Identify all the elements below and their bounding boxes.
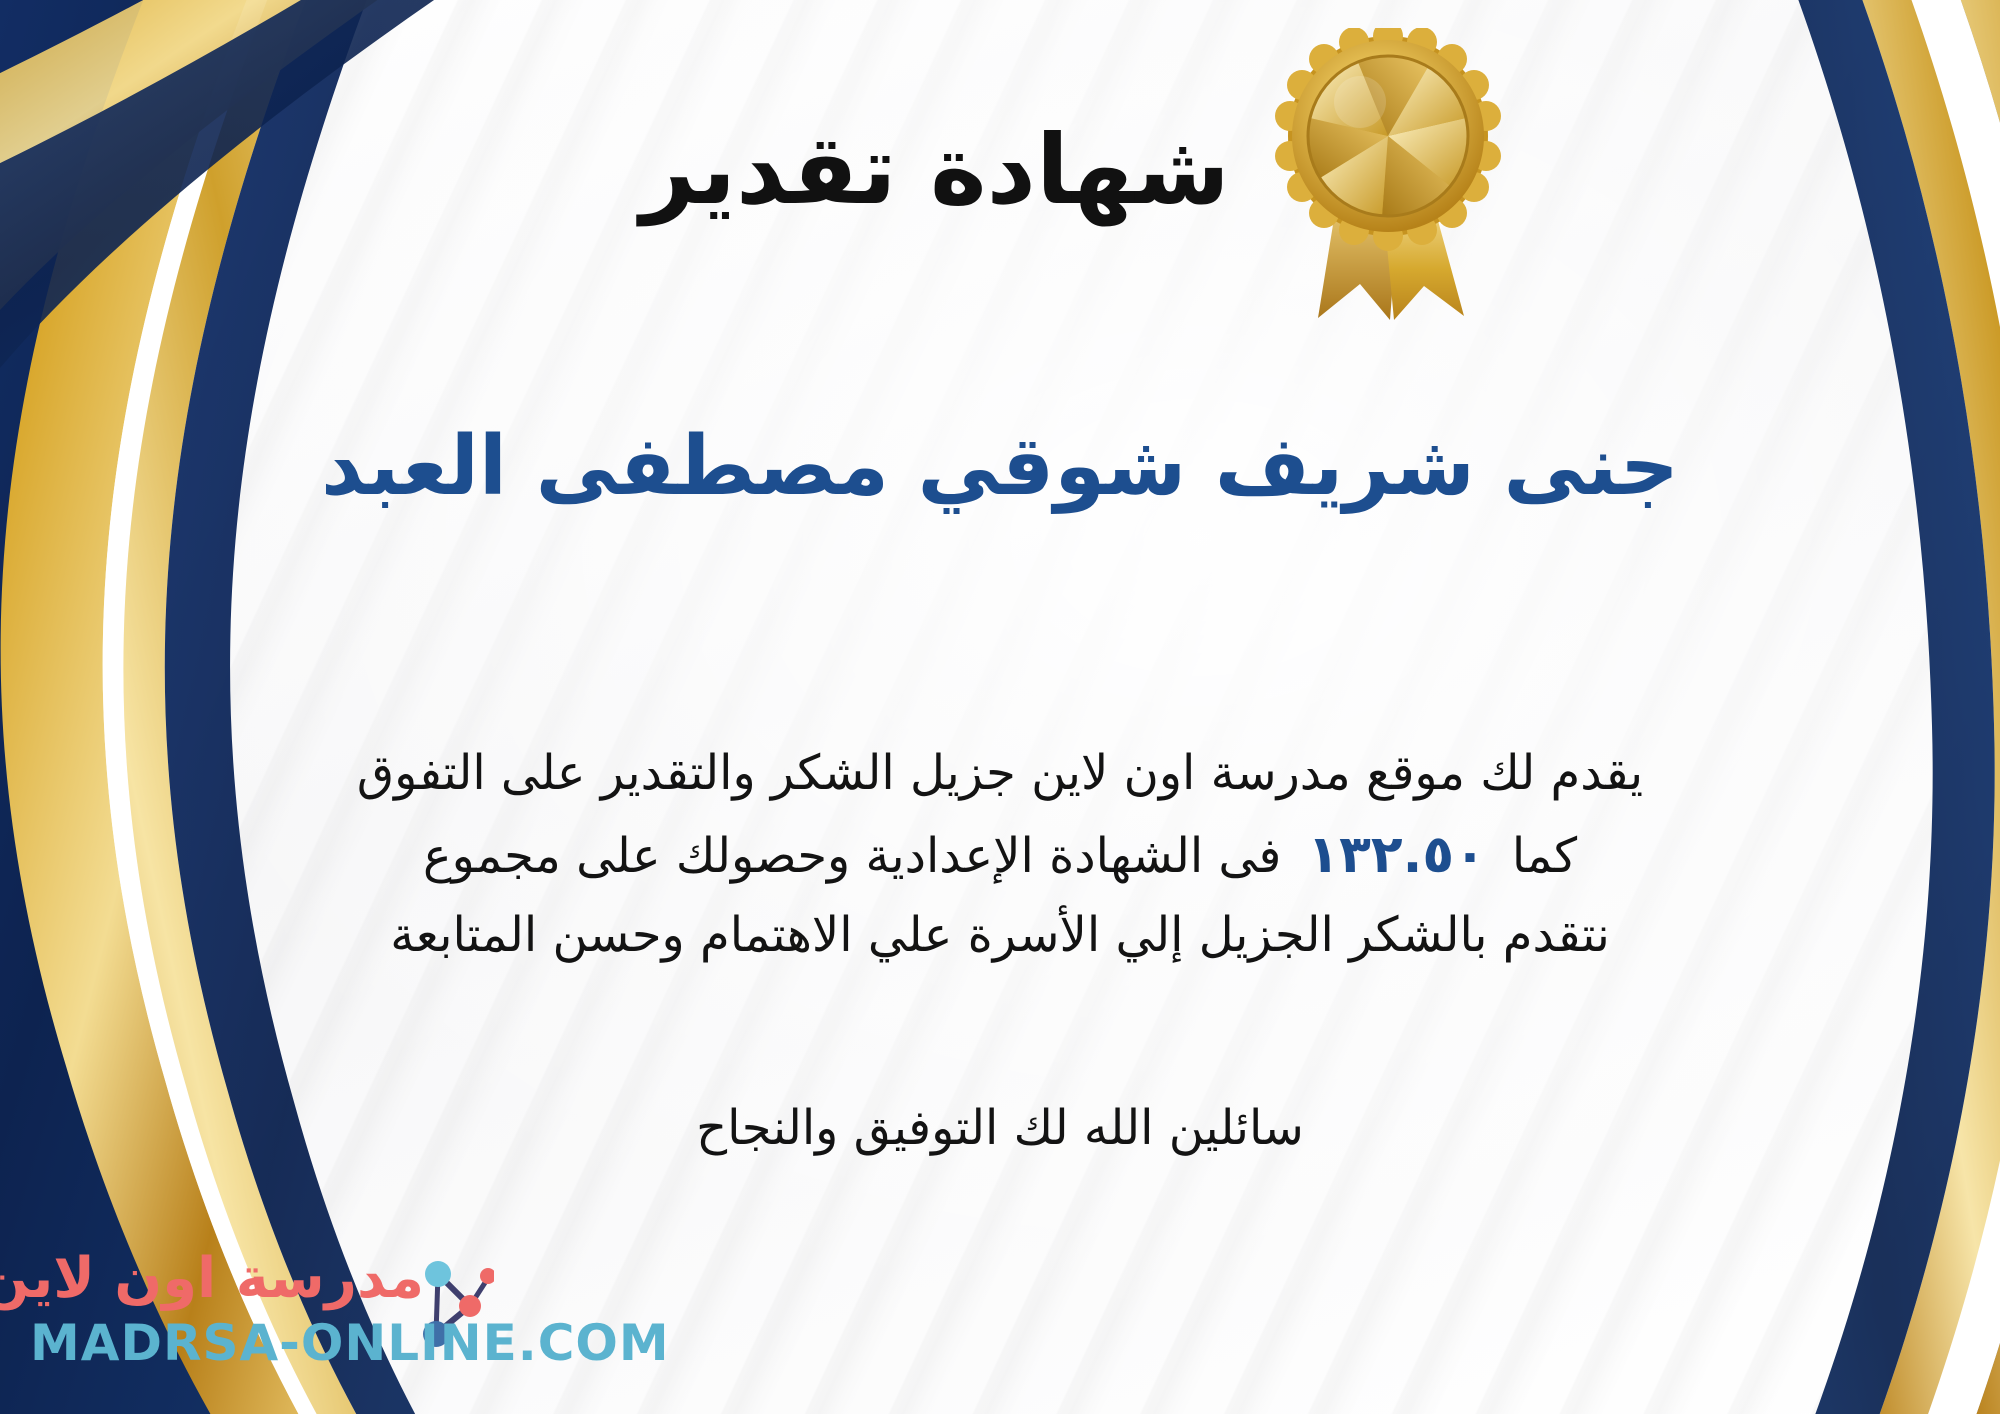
certificate-canvas: شهادة تقدير جنى شريف شوقي مصطفى العبد يق… bbox=[0, 0, 2000, 1414]
page-title: شهادة تقدير bbox=[0, 118, 2000, 224]
body-line-2-prefix: فى الشهادة الإعدادية وحصولك على مجموع bbox=[423, 828, 1281, 884]
body-line-1: يقدم لك موقع مدرسة اون لاين جزيل الشكر و… bbox=[0, 735, 2000, 813]
certificate-body: يقدم لك موقع مدرسة اون لاين جزيل الشكر و… bbox=[0, 735, 2000, 975]
body-line-2-suffix: كما bbox=[1512, 828, 1577, 884]
body-line-3: نتقدم بالشكر الجزيل إلي الأسرة علي الاهت… bbox=[0, 897, 2000, 975]
score-value: ١٣٢.٥٠ bbox=[1281, 813, 1511, 897]
closing-wish: سائلين الله لك التوفيق والنجاح bbox=[0, 1100, 2000, 1156]
logo-arabic-text: مدرسة اون لاين bbox=[0, 1246, 424, 1311]
student-name: جنى شريف شوقي مصطفى العبد bbox=[0, 420, 2000, 514]
body-line-2: كما١٣٢.٥٠فى الشهادة الإعدادية وحصولك على… bbox=[0, 813, 2000, 897]
site-logo[interactable]: مدرسة اون لاين MADRSA-ONLINE.COM bbox=[26, 1242, 486, 1392]
logo-domain-text: MADRSA-ONLINE.COM bbox=[30, 1314, 670, 1372]
